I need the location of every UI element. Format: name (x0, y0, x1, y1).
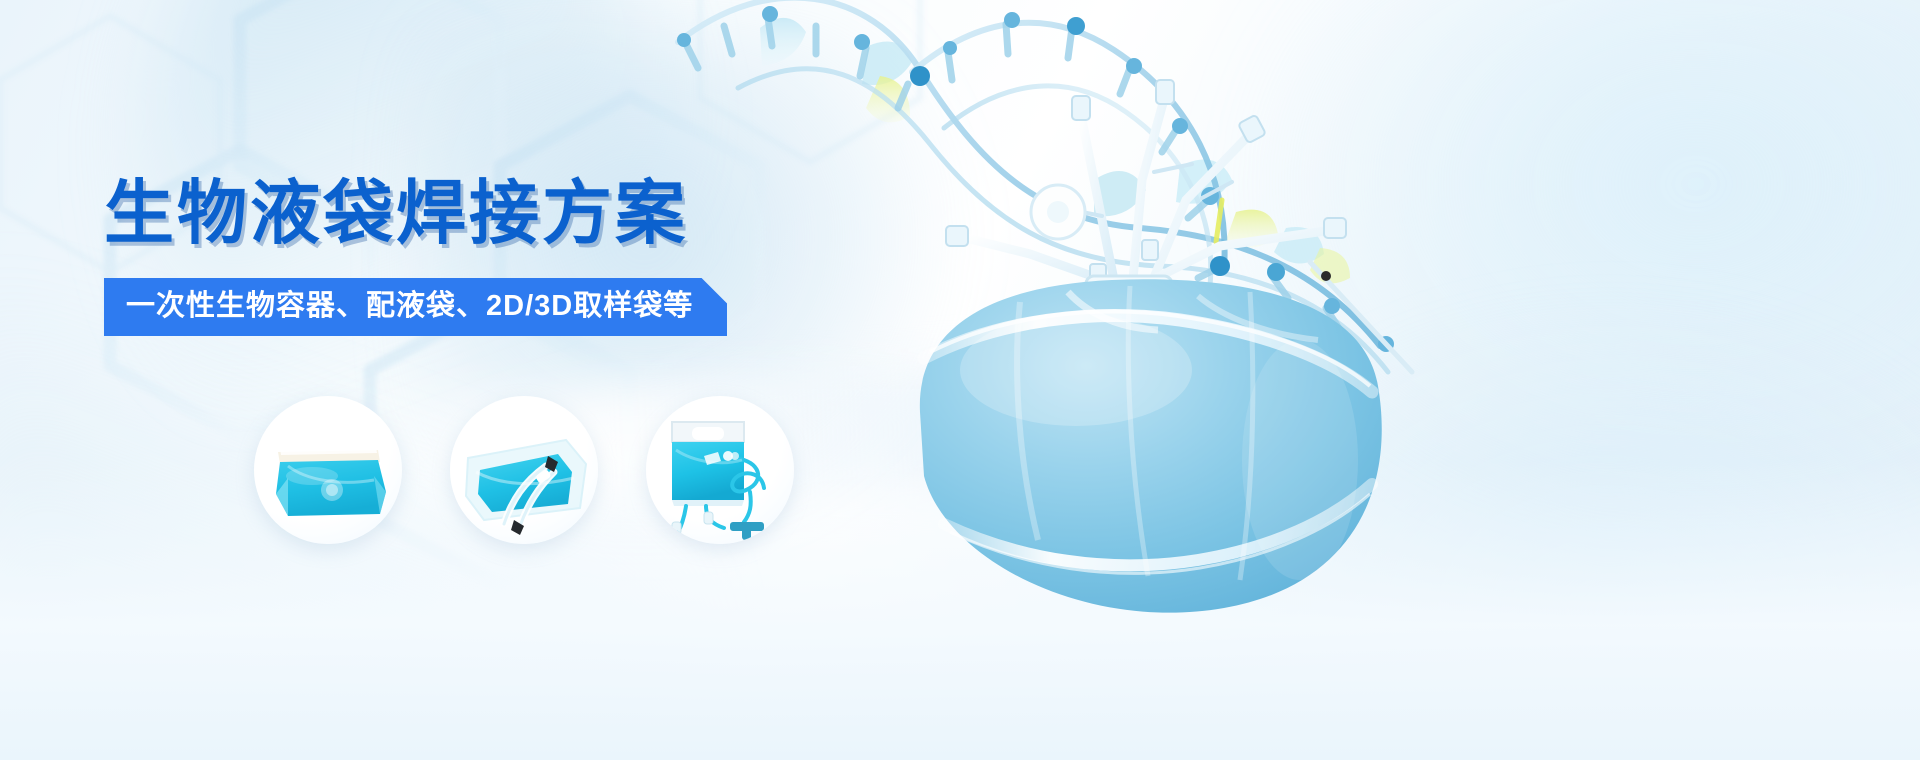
3d-sampling-bag-icon[interactable] (450, 396, 598, 544)
sampling-bag-tube-icon[interactable] (646, 396, 794, 544)
2d-liquid-bag-icon[interactable] (254, 396, 402, 544)
hero-copy: 生物液袋焊接方案 一次性生物容器、配液袋、2D/3D取样袋等 (104, 176, 727, 336)
subtitle-text: 一次性生物容器、配液袋、2D/3D取样袋等 (126, 290, 693, 324)
page-title: 生物液袋焊接方案 (104, 176, 727, 252)
product-hero-banner: 生物液袋焊接方案 一次性生物容器、配液袋、2D/3D取样袋等 (0, 0, 1920, 760)
subtitle-banner: 一次性生物容器、配液袋、2D/3D取样袋等 (104, 278, 727, 337)
3d-bioprocess-bag-icon (880, 40, 1580, 660)
product-thumbnail-row (254, 396, 854, 546)
